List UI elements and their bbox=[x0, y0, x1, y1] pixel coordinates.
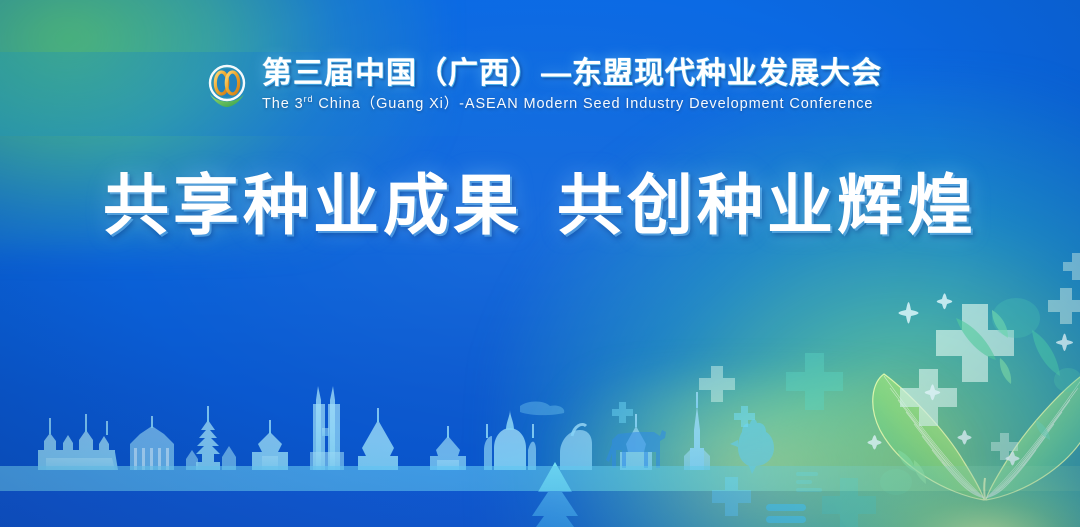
seed-rings-leaf-emblem-icon bbox=[204, 62, 250, 110]
header-row: 第三届中国（广西）—东盟现代种业发展大会 The 3rd China（Guang… bbox=[204, 58, 882, 113]
conference-poster: 第三届中国（广西）—东盟现代种业发展大会 The 3rd China（Guang… bbox=[0, 0, 1080, 527]
conference-title-en: The 3rd China（Guang Xi）-ASEAN Modern See… bbox=[262, 92, 882, 113]
header-title-block: 第三届中国（广西）—东盟现代种业发展大会 The 3rd China（Guang… bbox=[262, 58, 882, 113]
main-slogan: 共享种业成果共创种业辉煌 bbox=[0, 172, 1080, 238]
title-en-prefix: The 3 bbox=[262, 96, 304, 112]
title-en-rest: China（Guang Xi）-ASEAN Modern Seed Indust… bbox=[313, 96, 873, 112]
title-en-ordinal: rd bbox=[304, 95, 314, 105]
slogan-part-2: 共创种业辉煌 bbox=[557, 168, 977, 242]
conference-title-cn: 第三届中国（广西）—东盟现代种业发展大会 bbox=[262, 58, 882, 90]
slogan-part-1: 共享种业成果 bbox=[103, 168, 523, 242]
